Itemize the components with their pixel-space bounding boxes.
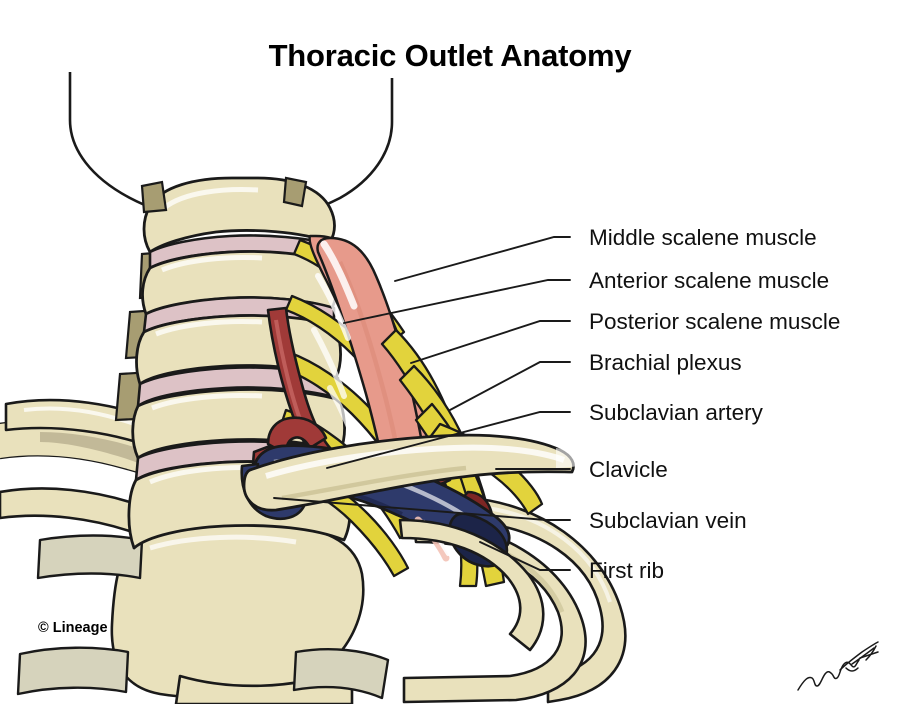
label-anterior-scalene-muscle: Anterior scalene muscle	[589, 270, 829, 293]
label-subclavian-artery: Subclavian artery	[589, 402, 763, 425]
label-middle-scalene-muscle: Middle scalene muscle	[589, 227, 817, 250]
leader-line-middle-scalene-muscle	[395, 237, 570, 281]
leader-line-posterior-scalene-muscle	[411, 321, 570, 363]
leader-line-brachial-plexus	[450, 362, 570, 410]
label-first-rib: First rib	[589, 560, 664, 583]
label-clavicle: Clavicle	[589, 459, 668, 482]
label-subclavian-vein: Subclavian vein	[589, 510, 747, 533]
artist-signature	[790, 634, 886, 696]
copyright-notice: © Lineage	[38, 620, 108, 636]
label-posterior-scalene-muscle: Posterior scalene muscle	[589, 311, 840, 334]
label-brachial-plexus: Brachial plexus	[589, 352, 742, 375]
anatomy-figure-page: Thoracic Outlet Anatomy	[0, 0, 900, 704]
thoracic-outlet-illustration	[0, 0, 900, 704]
